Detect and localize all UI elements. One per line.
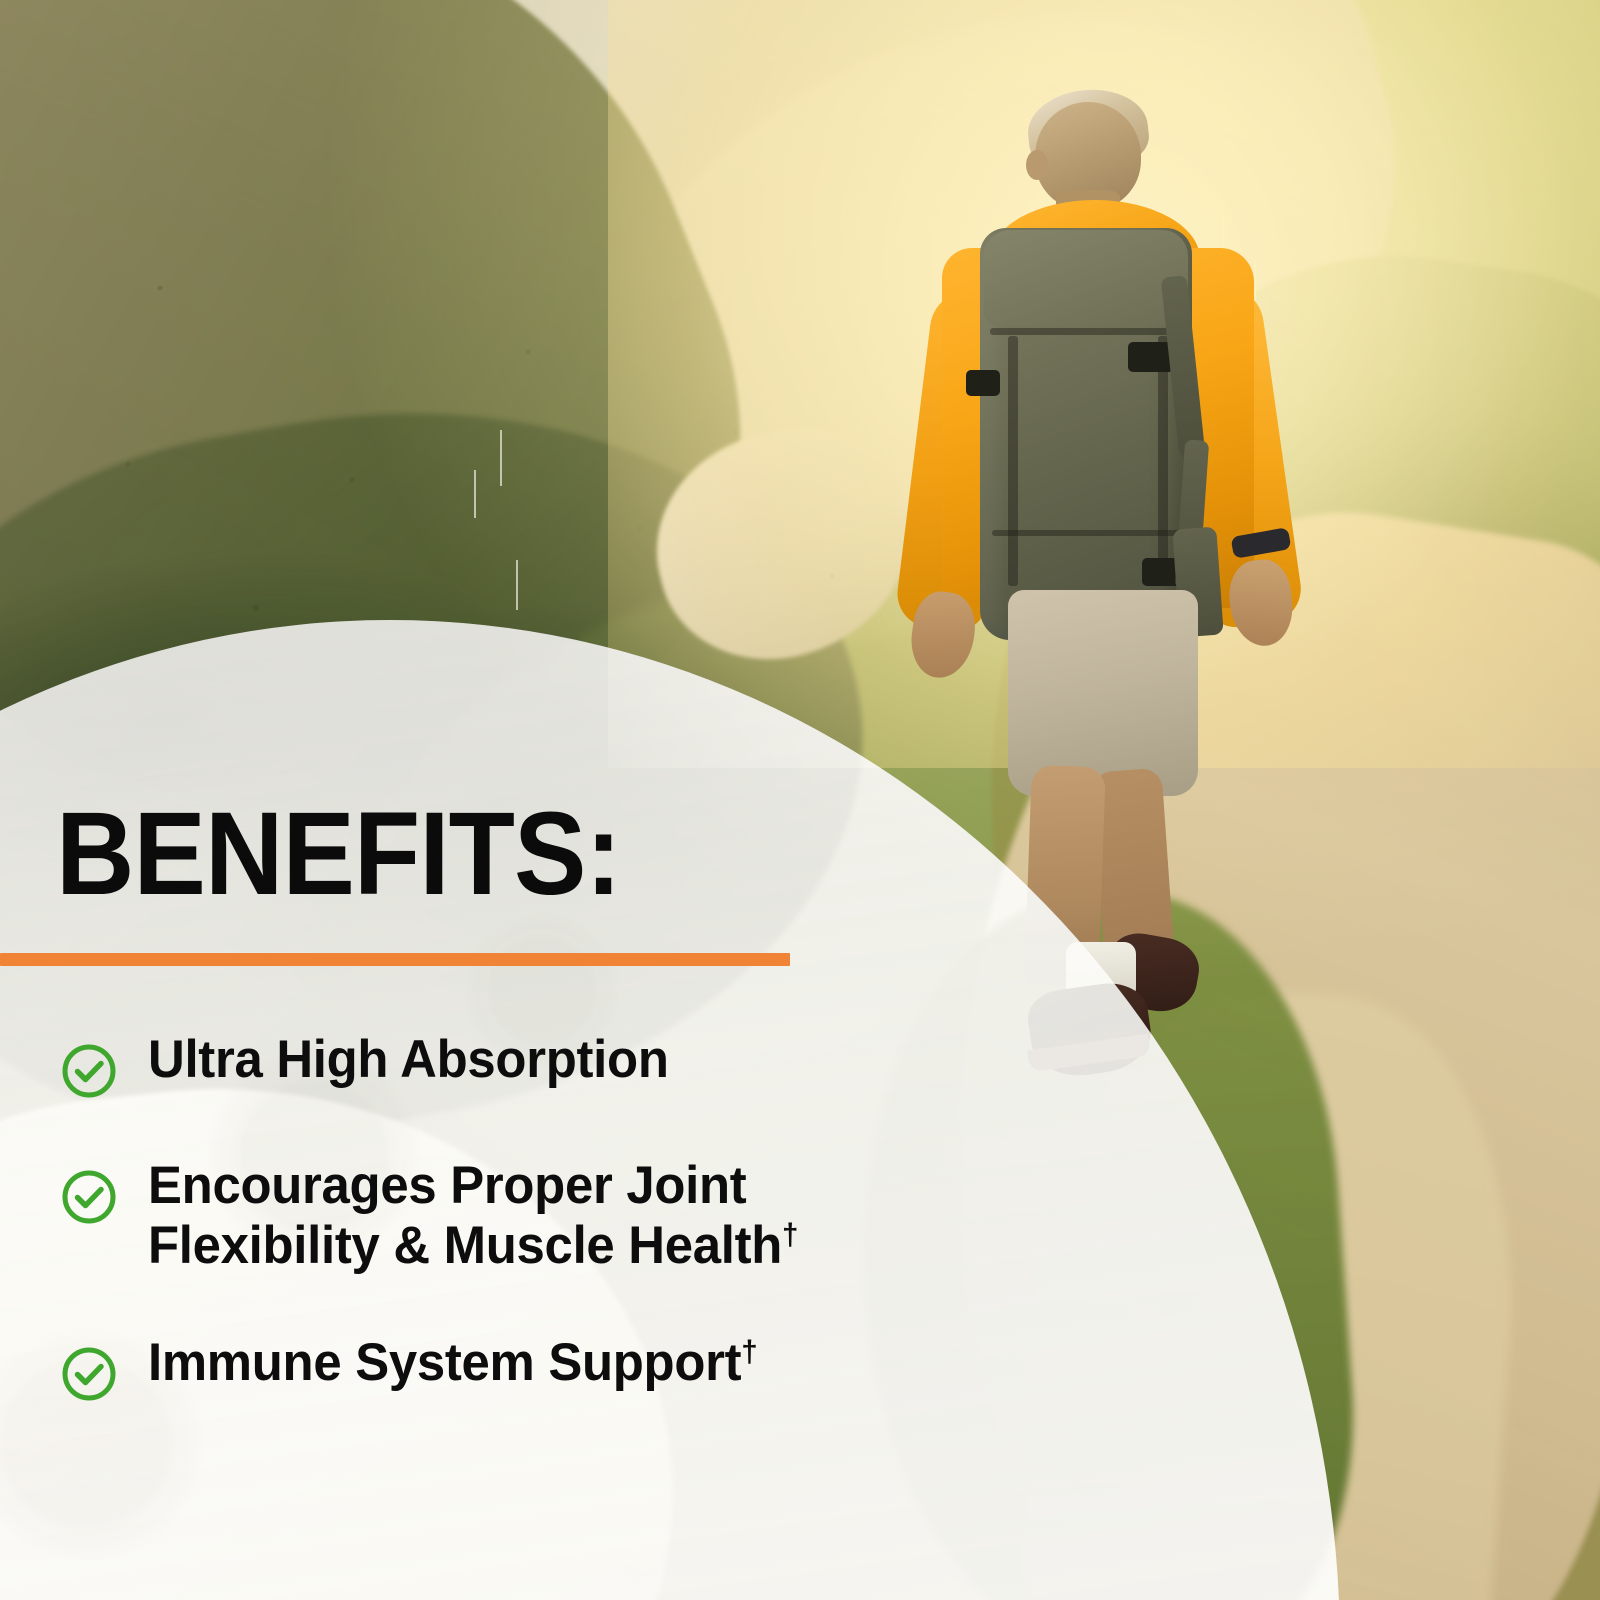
hiker-backpack-lid — [984, 230, 1188, 326]
benefit-line-1: Encourages Proper Joint — [148, 1156, 746, 1215]
benefit-line-1: Ultra High Absorption — [148, 1030, 669, 1089]
list-item: Immune System Support† — [60, 1333, 1020, 1403]
hiker-shorts — [1008, 590, 1198, 796]
benefit-line-1: Immune System Support — [148, 1333, 741, 1392]
dagger-footnote-marker: † — [782, 1217, 798, 1252]
title-underline-rule — [0, 953, 790, 966]
hiker-backpack-seam — [1158, 336, 1168, 586]
check-circle-icon — [60, 1168, 118, 1226]
banner-canvas: BENEFITS: Ultra High Absorption — [0, 0, 1600, 1600]
hiker-ear — [1026, 150, 1048, 180]
list-item: Encourages Proper Joint Flexibility & Mu… — [60, 1156, 1020, 1277]
benefit-text: Encourages Proper Joint Flexibility & Mu… — [148, 1156, 798, 1277]
benefits-list: Ultra High Absorption Encourages Proper … — [60, 1030, 1020, 1403]
benefit-text: Immune System Support† — [148, 1333, 757, 1393]
photo-ski-lift-tower — [474, 470, 476, 518]
photo-ski-lift-tower — [516, 560, 518, 610]
list-item: Ultra High Absorption — [60, 1030, 1020, 1100]
check-circle-icon — [60, 1345, 118, 1403]
hiker-backpack-seam — [992, 530, 1180, 536]
check-circle-icon — [60, 1042, 118, 1100]
hiker-backpack-seam — [1008, 336, 1018, 586]
hiker-figure — [880, 80, 1340, 1100]
hiker-backpack-seam — [990, 328, 1180, 335]
benefit-line-2: Flexibility & Muscle Health — [148, 1216, 782, 1275]
hiker-backpack-buckle — [966, 370, 1000, 396]
benefit-text: Ultra High Absorption — [148, 1030, 669, 1090]
page-title: BENEFITS: — [56, 795, 621, 913]
dagger-footnote-marker: † — [741, 1333, 757, 1368]
photo-ski-lift-tower — [500, 430, 502, 486]
